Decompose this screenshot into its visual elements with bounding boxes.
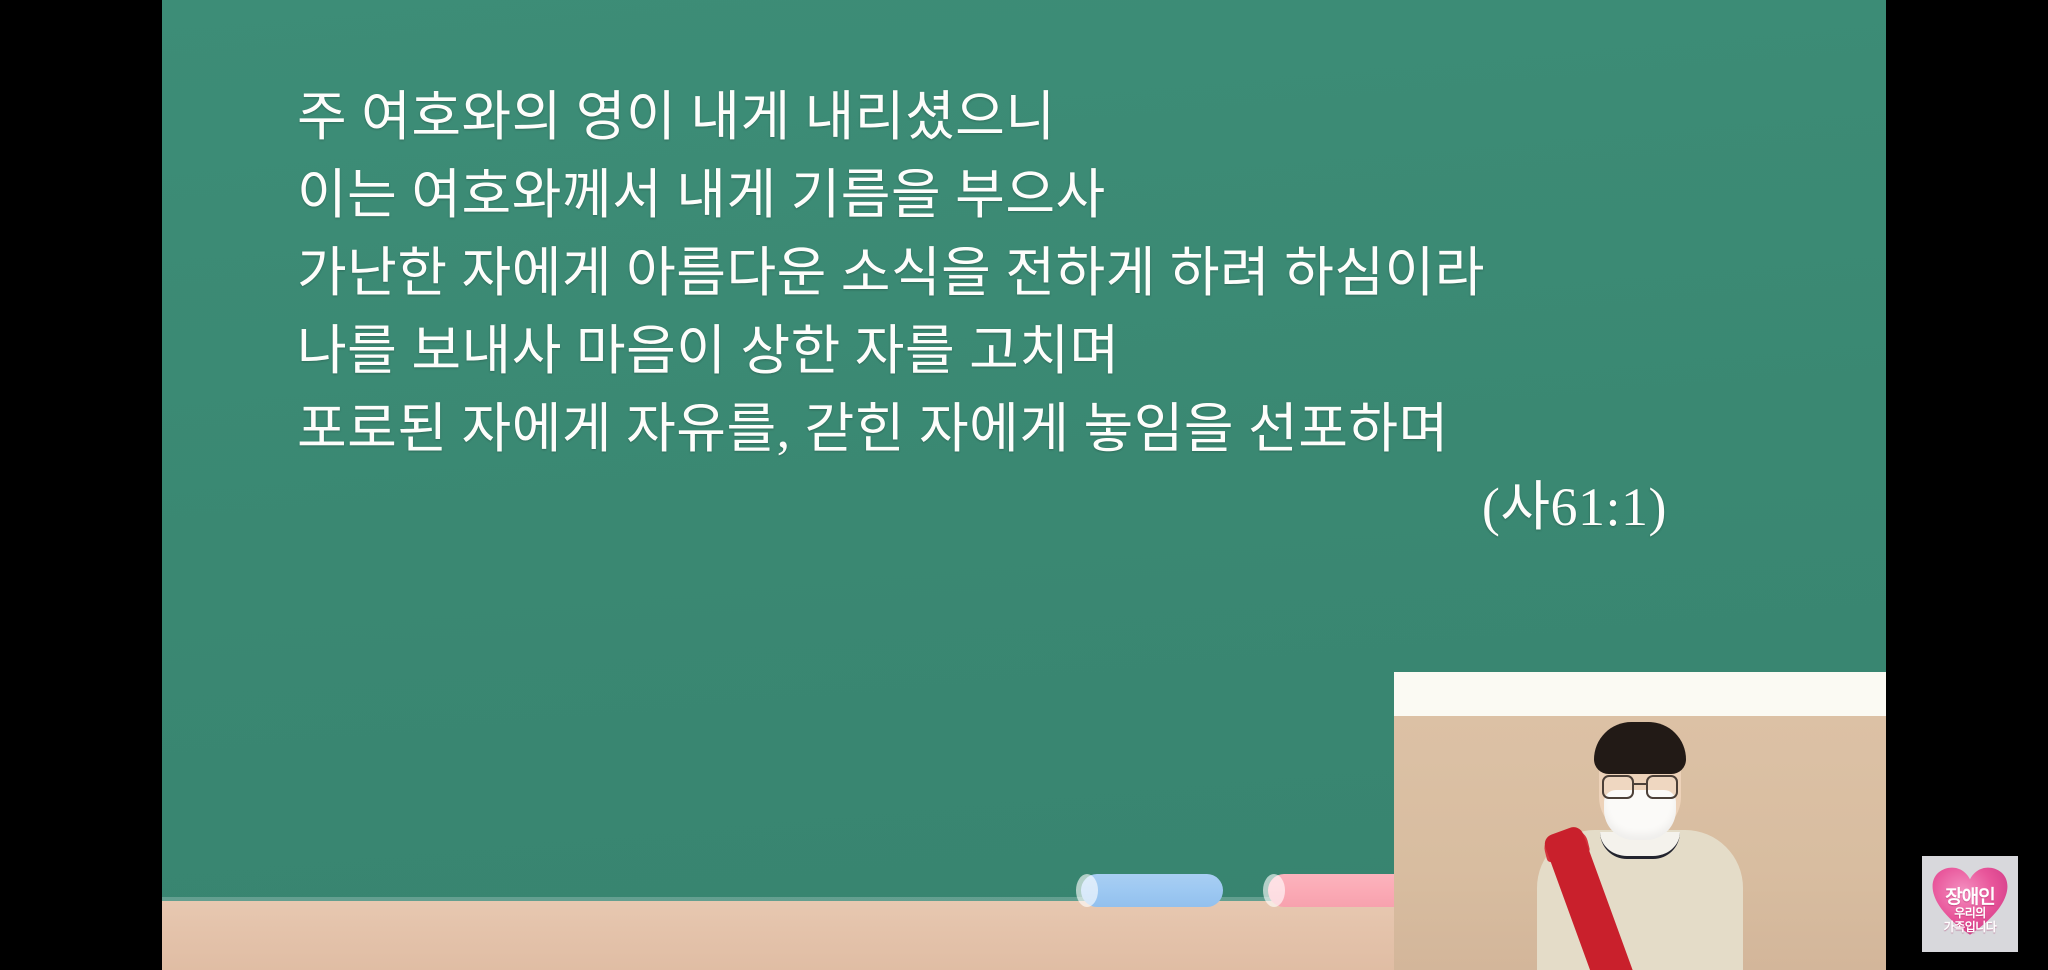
blue-chalk-end-cap — [1076, 874, 1098, 907]
letterbox-bar-left — [0, 0, 162, 970]
speaker-video-overlay — [1394, 672, 1886, 970]
presentation-slide: 주 여호와의 영이 내게 내리셨으니 이는 여호와께서 내게 기름을 부으사 가… — [162, 0, 1886, 970]
glasses-bridge — [1632, 783, 1646, 785]
video-player-stage: 주 여호와의 영이 내게 내리셨으니 이는 여호와께서 내게 기름을 부으사 가… — [0, 0, 2048, 970]
pink-chalk-end-cap — [1263, 874, 1285, 907]
scripture-reference: (사61:1) — [297, 468, 1797, 546]
verse-line-5: 포로된 자에게 자유를, 갇힌 자에게 놓임을 선포하며 — [297, 390, 1797, 468]
speaker-hair — [1594, 722, 1686, 774]
letterbox-bar-right — [1886, 0, 2048, 970]
speaker-figure — [1394, 672, 1886, 970]
glasses-lens-right — [1646, 775, 1678, 799]
verse-line-3: 가난한 자에게 아름다운 소식을 전하게 하려 하심이라 — [297, 234, 1797, 312]
eyeglasses-icon — [1600, 775, 1680, 795]
verse-line-4: 나를 보내사 마음이 상한 자를 고치며 — [297, 312, 1797, 390]
broadcast-watermark-logo: 장애인 우리의 가족입니다 — [1922, 856, 2018, 952]
heart-icon — [1931, 866, 2009, 938]
glasses-lens-left — [1602, 775, 1634, 799]
verse-line-1: 주 여호와의 영이 내게 내리셨으니 — [297, 78, 1797, 156]
scripture-verse-block: 주 여호와의 영이 내게 내리셨으니 이는 여호와께서 내게 기름을 부으사 가… — [297, 78, 1797, 546]
verse-line-2: 이는 여호와께서 내게 기름을 부으사 — [297, 156, 1797, 234]
blue-chalk-stick — [1081, 874, 1223, 907]
